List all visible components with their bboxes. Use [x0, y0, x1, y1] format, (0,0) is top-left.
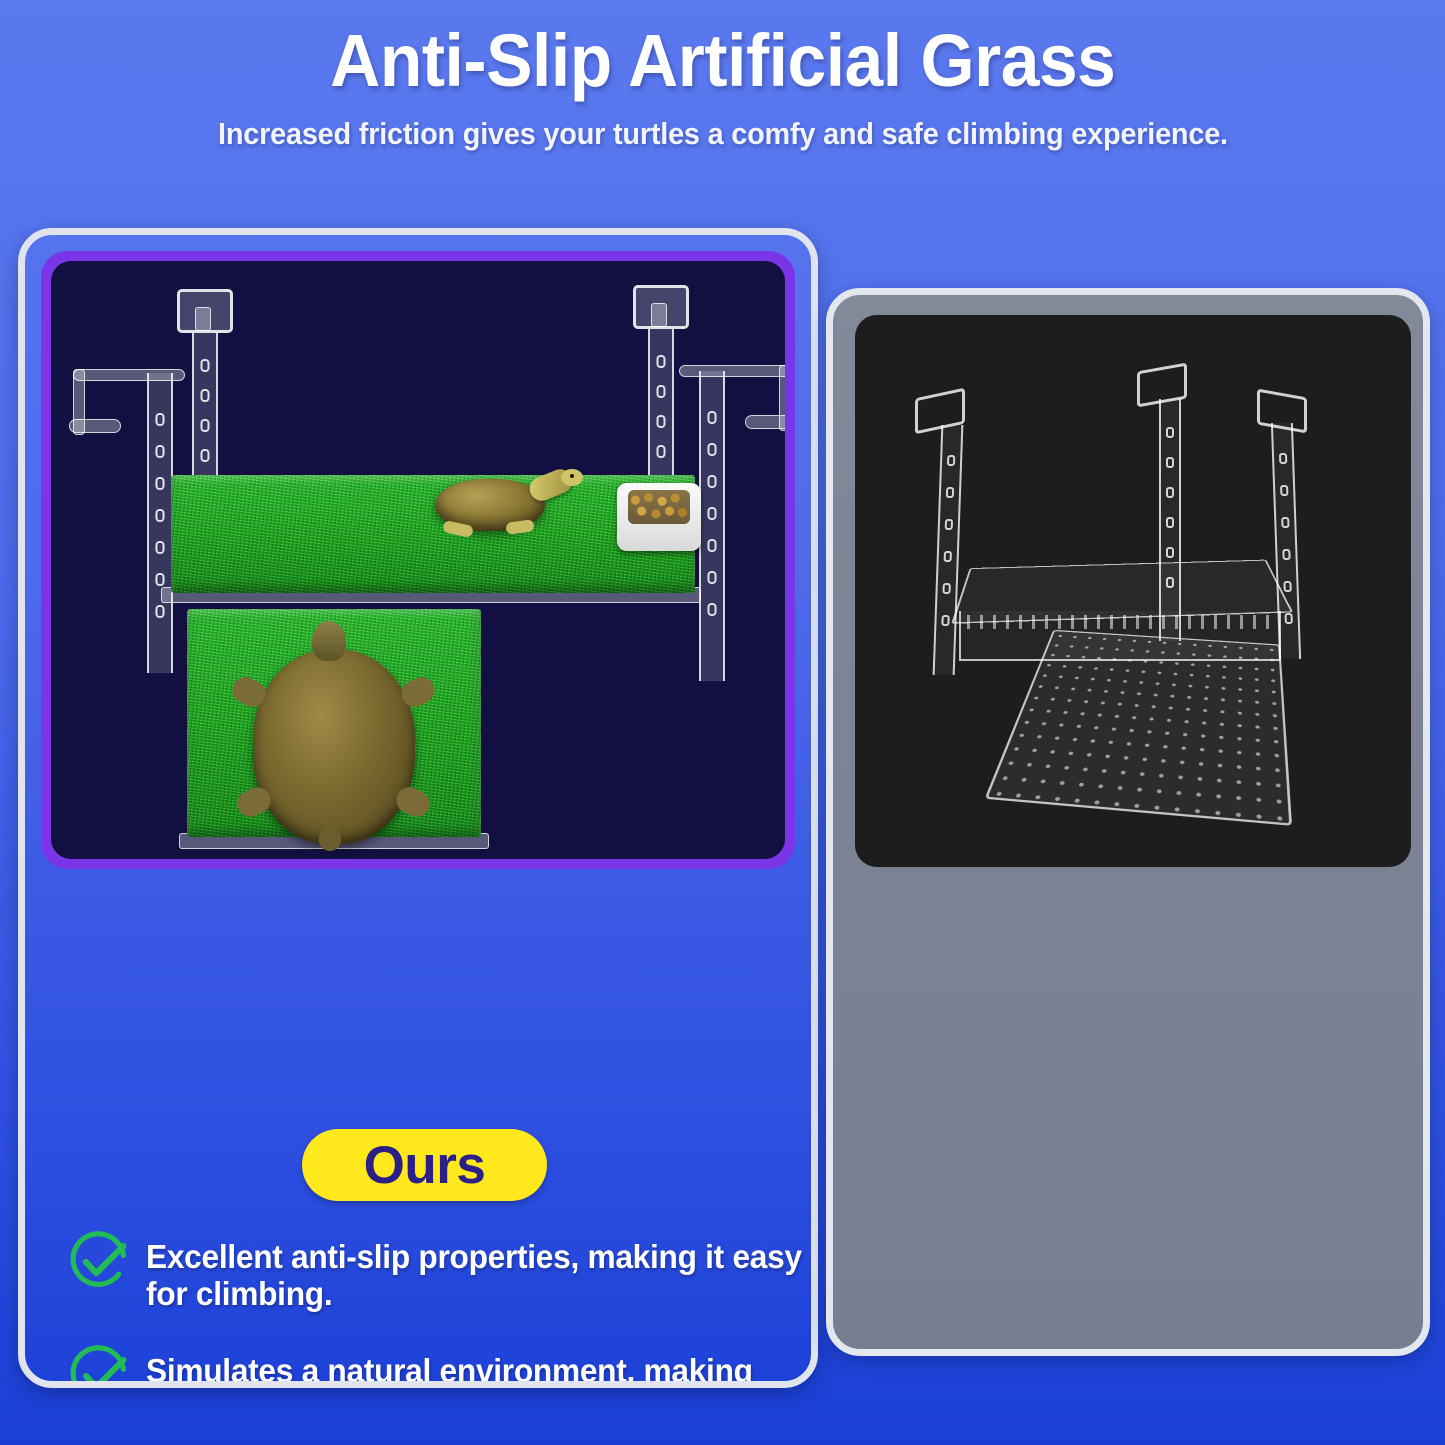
ours-badge: Ours: [302, 1129, 547, 1201]
clamp-arm-right: [679, 365, 785, 377]
clamp-screw-right: [745, 415, 785, 429]
ours-panel: Ours Excellent anti-slip properties, mak…: [18, 228, 818, 1388]
others-product-photo: [855, 315, 1411, 867]
others-panel: Others Not slip-resistant, making it dif…: [826, 288, 1430, 1356]
check-circle-icon: [70, 1231, 130, 1291]
clamp-screw-left: [69, 419, 121, 433]
ours-photo-canvas: [51, 261, 785, 859]
header: Anti-Slip Artificial Grass Increased fri…: [0, 0, 1445, 195]
list-item: Simulates a natural environment, making …: [70, 1349, 818, 1388]
check-circle-icon: [70, 1345, 130, 1388]
ours-product-photo: [41, 251, 795, 869]
page-subtitle: Increased friction gives your turtles a …: [218, 116, 1228, 152]
support-post-left-back: [147, 373, 173, 673]
ours-benefit-list: Excellent anti-slip properties, making i…: [70, 1235, 818, 1388]
platform-hole-row-others: [967, 615, 1273, 629]
clamp-bolt-left: [195, 307, 211, 331]
list-item-label: Simulates a natural environment, making …: [146, 1349, 803, 1388]
list-item: Excellent anti-slip properties, making i…: [70, 1235, 818, 1313]
list-item-label: Excellent anti-slip properties, making i…: [146, 1235, 803, 1313]
page-title: Anti-Slip Artificial Grass: [330, 22, 1115, 100]
clamp-bolt-right: [651, 303, 667, 327]
support-post-right-front: [699, 371, 725, 681]
food-pellets: [628, 490, 690, 524]
